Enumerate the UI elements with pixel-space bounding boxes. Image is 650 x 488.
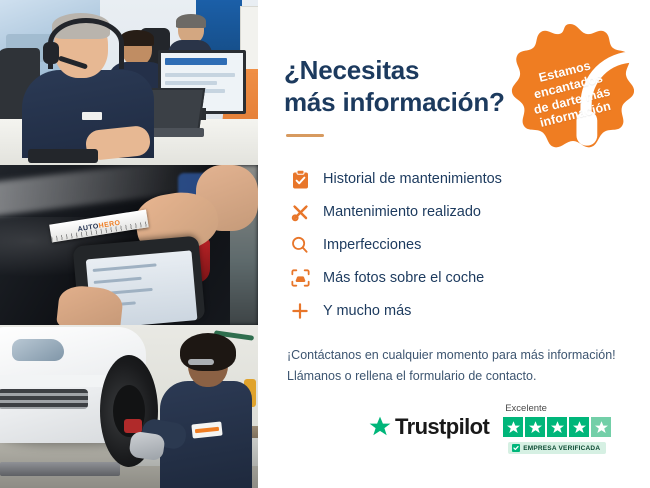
feature-label: Y mucho más (323, 303, 411, 319)
star-rating (503, 417, 611, 437)
contact-line-1: ¡Contáctanos en cualquier momento para m… (287, 348, 616, 362)
feature-label: Mantenimiento realizado (323, 204, 481, 220)
agent-with-headset (22, 16, 154, 150)
desk-tablet (28, 149, 98, 163)
check-badge-icon (512, 444, 520, 452)
star-filled (503, 417, 523, 437)
content-panel: ¿Necesitas más información? Estamos enca… (258, 0, 650, 488)
trustpilot-logo[interactable]: Trustpilot (368, 414, 489, 440)
trustpilot-star-icon (368, 415, 392, 439)
feature-label: Imperfecciones (323, 237, 421, 253)
call-center-photo (0, 0, 258, 165)
verified-label: EMPRESA VERIFICADA (523, 445, 600, 452)
work-glove (128, 431, 165, 461)
promo-card: AUTOHERO (0, 0, 650, 488)
inspection-photo: AUTOHERO (0, 165, 258, 325)
star-partial (591, 417, 611, 437)
feature-item-more-photos: Más fotos sobre el coche (287, 262, 626, 294)
support-badge: Estamos encantados de darte más informac… (506, 22, 634, 150)
feature-label: Historial de mantenimientos (323, 171, 502, 187)
verified-badge: EMPRESA VERIFICADA (508, 442, 606, 454)
clipboard-check-icon (287, 170, 313, 189)
car-scan-icon (287, 269, 313, 287)
contact-line-2: Llámanos o rellena el formulario de cont… (287, 369, 536, 383)
star-filled (525, 417, 545, 437)
car-lift (0, 462, 120, 476)
mechanic (146, 337, 252, 488)
feature-list: Historial de mantenimientos Mantenimient… (287, 163, 626, 327)
feature-item-much-more: Y mucho más (287, 295, 626, 327)
plus-icon (287, 302, 313, 320)
headset-worn-icon (48, 18, 124, 69)
star-filled (569, 417, 589, 437)
feature-item-imperfections: Imperfecciones (287, 229, 626, 261)
page-title-line-2: más información? (284, 87, 505, 117)
safety-glasses (188, 359, 214, 365)
feature-item-maintenance-done: Mantenimiento realizado (287, 196, 626, 228)
feature-item-maintenance-history: Historial de mantenimientos (287, 163, 626, 195)
tools-icon (287, 203, 313, 222)
page-title: ¿Necesitas más información? (284, 55, 514, 118)
photo-column: AUTOHERO (0, 0, 258, 488)
magnifier-icon (287, 236, 313, 254)
workshop-photo (0, 325, 258, 488)
hand-tool (124, 419, 142, 433)
contact-text: ¡Contáctanos en cualquier momento para m… (287, 345, 626, 386)
trustpilot-rating[interactable]: Trustpilot Excelente (368, 403, 611, 454)
trustpilot-wordmark: Trustpilot (395, 414, 489, 440)
feature-label: Más fotos sobre el coche (323, 270, 484, 286)
page-title-line-1: ¿Necesitas (284, 55, 419, 85)
title-divider (286, 134, 324, 137)
star-filled (547, 417, 567, 437)
rating-label: Excelente (505, 403, 547, 414)
